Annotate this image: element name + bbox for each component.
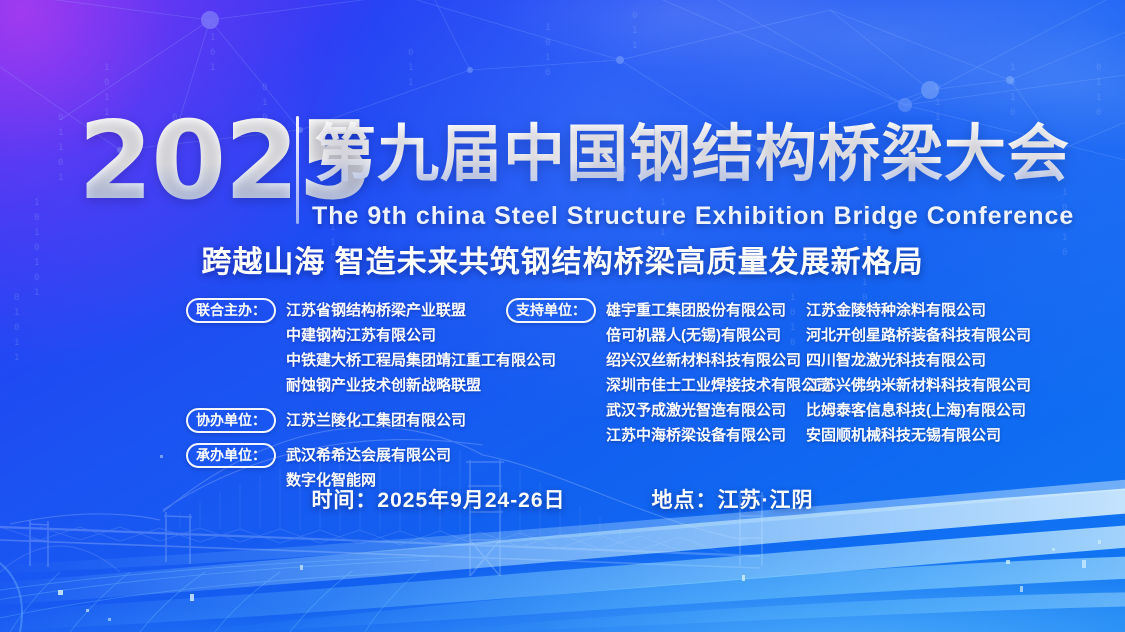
svg-text:1: 1 [1096, 93, 1101, 103]
list-item: 武汉予成激光智造有限公司 [606, 398, 831, 423]
svg-text:1: 1 [1096, 78, 1101, 88]
conference-banner: 010 11 101 010 1 011 01 101 1 010 101 01… [0, 0, 1125, 632]
supporter-names: 雄宇重工集团股份有限公司 倍可机器人(无锡)有限公司 绍兴汉丝新材料科技有限公司… [606, 298, 831, 448]
svg-text:0: 0 [408, 48, 413, 58]
list-item: 雄宇重工集团股份有限公司 [606, 298, 831, 323]
svg-text:0: 0 [1010, 78, 1015, 88]
spacer [186, 400, 506, 408]
co-organizer-names: 江苏兰陵化工集团有限公司 [286, 408, 466, 433]
svg-text:0: 0 [1096, 63, 1101, 73]
list-item: 江苏中海桥梁设备有限公司 [606, 423, 831, 448]
conference-tagline: 跨越山海 智造未来共筑钢结构桥梁高质量发展新格局 [0, 237, 1125, 281]
svg-text:1: 1 [210, 63, 215, 73]
supporter-label: 支持单位： [506, 298, 596, 323]
sponsors-section: 联合主办： 江苏省钢结构桥梁产业联盟 中建钢构江苏有限公司 中铁建大桥工程局集团… [0, 298, 1125, 458]
conference-title-english: The 9th china Steel Structure Exhibition… [312, 202, 1074, 231]
list-item: 江苏兴佛纳米新材料科技有限公司 [806, 373, 1106, 398]
svg-text:0: 0 [632, 11, 637, 21]
svg-text:1: 1 [545, 23, 550, 33]
event-location: 地点：江苏·江阴 [652, 484, 814, 514]
co-organizer-group: 协办单位： 江苏兰陵化工集团有限公司 [186, 408, 506, 433]
svg-text:1: 1 [632, 26, 637, 36]
list-item: 安固顺机械科技无锡有限公司 [806, 423, 1106, 448]
list-item: 比姆泰客信息科技(上海)有限公司 [806, 398, 1106, 423]
sponsor-column-middle: 支持单位： 雄宇重工集团股份有限公司 倍可机器人(无锡)有限公司 绍兴汉丝新材料… [506, 298, 806, 450]
spacer [186, 435, 506, 443]
list-item: 江苏兰陵化工集团有限公司 [286, 408, 466, 433]
conference-title-chinese: 第九届中国钢结构桥梁大会 [314, 116, 1070, 194]
list-item: 倍可机器人(无锡)有限公司 [606, 323, 831, 348]
svg-text:1: 1 [408, 63, 413, 73]
svg-text:0: 0 [262, 83, 267, 93]
list-item: 绍兴汉丝新材料科技有限公司 [606, 348, 831, 373]
list-item: 江苏金陵特种涂料有限公司 [806, 298, 1106, 323]
svg-text:0: 0 [545, 68, 550, 78]
list-item: 武汉希希达会展有限公司 [286, 443, 451, 468]
svg-text:1: 1 [935, 98, 940, 108]
svg-text:1: 1 [1010, 63, 1015, 73]
svg-text:0: 0 [210, 48, 215, 58]
event-date: 时间：2025年9月24-26日 [311, 484, 565, 514]
list-item: 深圳市佳士工业焊接技术有限公司 [606, 373, 831, 398]
supporter-group: 支持单位： 雄宇重工集团股份有限公司 倍可机器人(无锡)有限公司 绍兴汉丝新材料… [506, 298, 806, 448]
event-meta: 时间：2025年9月24-26日 地点：江苏·江阴 [0, 484, 1125, 514]
svg-text:1: 1 [210, 33, 215, 43]
list-item: 河北开创星路桥装备科技有限公司 [806, 323, 1106, 348]
svg-text:0: 0 [104, 78, 109, 88]
svg-text:0: 0 [935, 83, 940, 93]
list-item: 四川智龙激光科技有限公司 [806, 348, 1106, 373]
svg-text:1: 1 [632, 41, 637, 51]
svg-text:1: 1 [104, 63, 109, 73]
svg-text:1: 1 [34, 288, 39, 298]
organizer-label: 承办单位： [186, 443, 276, 468]
svg-text:1: 1 [545, 53, 550, 63]
banner-header: 2025 第九届中国钢结构桥梁大会 The 9th china Steel St… [0, 112, 1125, 232]
co-host-label: 联合主办： [186, 298, 276, 323]
sponsor-column-right: 江苏金陵特种涂料有限公司 河北开创星路桥装备科技有限公司 四川智龙激光科技有限公… [806, 298, 1106, 448]
svg-text:0: 0 [545, 38, 550, 48]
co-host-group: 联合主办： 江苏省钢结构桥梁产业联盟 中建钢构江苏有限公司 中铁建大桥工程局集团… [186, 298, 506, 398]
svg-text:1: 1 [408, 78, 413, 88]
svg-text:1: 1 [1010, 93, 1015, 103]
sponsor-column-left: 联合主办： 江苏省钢结构桥梁产业联盟 中建钢构江苏有限公司 中铁建大桥工程局集团… [186, 298, 506, 495]
supporter-extra-names: 江苏金陵特种涂料有限公司 河北开创星路桥装备科技有限公司 四川智龙激光科技有限公… [806, 298, 1106, 448]
title-divider [296, 116, 299, 224]
co-organizer-label: 协办单位： [186, 408, 276, 433]
